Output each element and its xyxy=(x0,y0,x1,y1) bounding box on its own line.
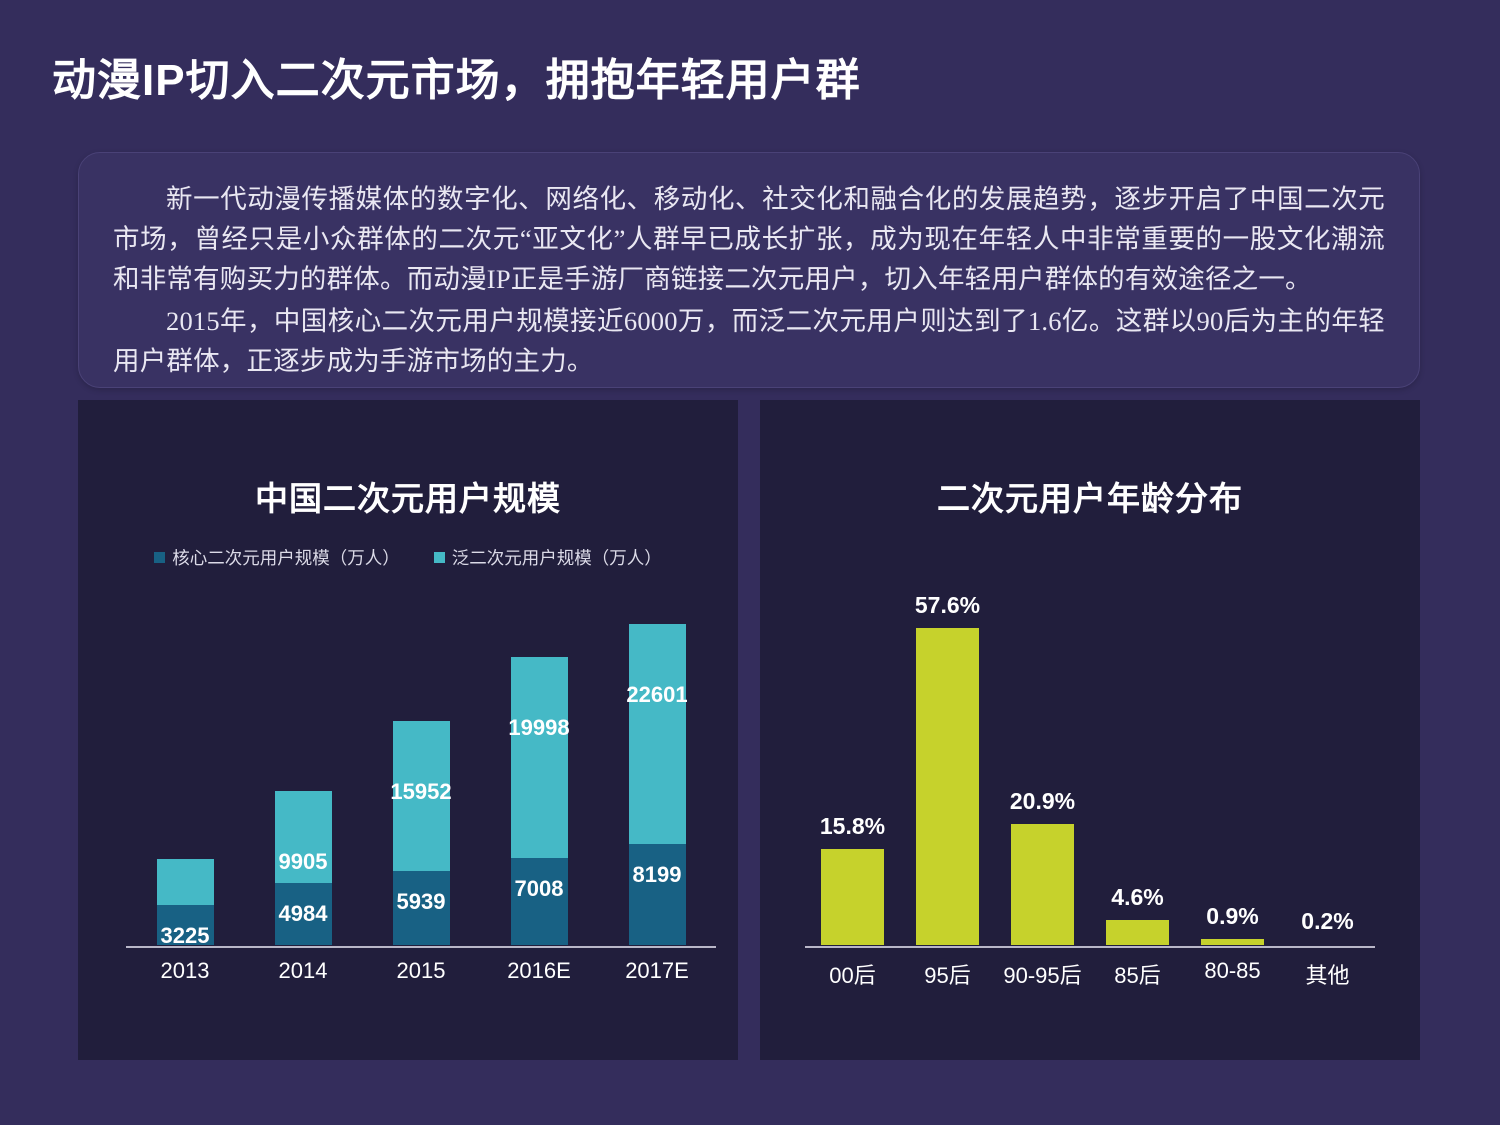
chart-legend-user-scale: 核心二次元用户规模（万人） 泛二次元用户规模（万人） xyxy=(78,545,738,570)
x-tick-85hou: 85后 xyxy=(1090,958,1185,990)
bar-group-age-distribution: 15.8% 57.6% 20.9% 4.6% 0.9% 0.2% xyxy=(805,595,1375,945)
bar-label-pan-2015: 15952 xyxy=(390,779,451,805)
x-axis-labels-age-distribution: 00后 95后 90-95后 85后 80-85 其他 xyxy=(805,958,1375,990)
legend-swatch-pan-icon xyxy=(434,552,445,563)
bar-segment-pan-2016E[interactable]: 19998 xyxy=(511,657,568,858)
x-tick-2017E: 2017E xyxy=(598,958,716,984)
bar-slot-95hou[interactable]: 57.6% xyxy=(900,595,995,945)
chart-panel-age-distribution: 二次元用户年龄分布 15.8% 57.6% 20.9% 4.6% 0.9% xyxy=(760,400,1420,1060)
legend-swatch-core-icon xyxy=(154,552,165,563)
x-tick-2014: 2014 xyxy=(244,958,362,984)
x-tick-80-85: 80-85 xyxy=(1185,958,1280,990)
bar-label-core-2017E: 8199 xyxy=(633,862,682,888)
bar-group-user-scale: 5635 3225 9905 4984 15952 xyxy=(126,615,716,945)
x-tick-90-95hou: 90-95后 xyxy=(995,958,1090,990)
x-axis-line-user-scale xyxy=(126,946,716,948)
bar-label-pan-2014: 9905 xyxy=(279,849,328,875)
x-tick-2013: 2013 xyxy=(126,958,244,984)
intro-text-body: 新一代动漫传播媒体的数字化、网络化、移动化、社交化和融合化的发展趋势，逐步开启了… xyxy=(79,153,1419,381)
bar-label-core-2016E: 7008 xyxy=(515,876,564,902)
bar-segment-core-2015[interactable]: 5939 xyxy=(393,871,450,945)
chart-title-age-distribution: 二次元用户年龄分布 xyxy=(760,472,1420,520)
legend-label-pan: 泛二次元用户规模（万人） xyxy=(452,545,662,570)
bar-slot-2013[interactable]: 5635 3225 xyxy=(126,615,244,945)
bar-slot-qita[interactable]: 0.2% xyxy=(1280,595,1375,945)
x-tick-qita: 其他 xyxy=(1280,958,1375,990)
x-tick-95hou: 95后 xyxy=(900,958,995,990)
bar-value-95hou: 57.6% xyxy=(915,592,980,619)
legend-item-pan[interactable]: 泛二次元用户规模（万人） xyxy=(434,545,662,570)
bar-segment-pan-2017E[interactable]: 22601 xyxy=(629,624,686,844)
bar-85hou[interactable]: 4.6% xyxy=(1106,920,1169,945)
stacked-bar-2013[interactable]: 5635 3225 xyxy=(157,859,214,945)
x-axis-line-age-distribution xyxy=(805,946,1375,948)
page-title: 动漫IP切入二次元市场，拥抱年轻用户群 xyxy=(52,44,861,108)
bar-segment-core-2017E[interactable]: 8199 xyxy=(629,844,686,945)
bar-segment-pan-2015[interactable]: 15952 xyxy=(393,721,450,871)
x-axis-labels-user-scale: 2013 2014 2015 2016E 2017E xyxy=(126,958,716,984)
x-tick-2016E: 2016E xyxy=(480,958,598,984)
bar-95hou[interactable]: 57.6% xyxy=(916,628,979,945)
bar-value-85hou: 4.6% xyxy=(1111,884,1163,911)
bar-value-qita: 0.2% xyxy=(1301,908,1353,935)
bar-label-pan-2016E: 19998 xyxy=(508,715,569,741)
bar-slot-80-85[interactable]: 0.9% xyxy=(1185,595,1280,945)
stacked-bar-2014[interactable]: 9905 4984 xyxy=(275,791,332,945)
stacked-bar-2015[interactable]: 15952 5939 xyxy=(393,721,450,945)
x-tick-2015: 2015 xyxy=(362,958,480,984)
bar-segment-core-2013[interactable]: 3225 xyxy=(157,905,214,945)
intro-paragraph-2: 2015年，中国核心二次元用户规模接近6000万，而泛二次元用户则达到了1.6亿… xyxy=(113,301,1385,381)
intro-paragraph-1: 新一代动漫传播媒体的数字化、网络化、移动化、社交化和融合化的发展趋势，逐步开启了… xyxy=(113,179,1385,299)
intro-text-card: 新一代动漫传播媒体的数字化、网络化、移动化、社交化和融合化的发展趋势，逐步开启了… xyxy=(78,152,1420,388)
chart-title-user-scale: 中国二次元用户规模 xyxy=(78,472,738,520)
bar-80-85[interactable]: 0.9% xyxy=(1201,939,1264,945)
bar-value-00hou: 15.8% xyxy=(820,813,885,840)
bar-segment-core-2014[interactable]: 4984 xyxy=(275,883,332,945)
bar-slot-2015[interactable]: 15952 5939 xyxy=(362,615,480,945)
chart-panel-user-scale: 中国二次元用户规模 核心二次元用户规模（万人） 泛二次元用户规模（万人） 563… xyxy=(78,400,738,1060)
x-tick-00hou: 00后 xyxy=(805,958,900,990)
legend-item-core[interactable]: 核心二次元用户规模（万人） xyxy=(154,545,400,570)
legend-label-core: 核心二次元用户规模（万人） xyxy=(172,545,400,570)
bar-segment-pan-2014[interactable]: 9905 xyxy=(275,791,332,883)
bar-90-95hou[interactable]: 20.9% xyxy=(1011,824,1074,945)
bar-slot-90-95hou[interactable]: 20.9% xyxy=(995,595,1090,945)
bar-00hou[interactable]: 15.8% xyxy=(821,849,884,945)
bar-label-core-2014: 4984 xyxy=(279,901,328,927)
bar-slot-2016E[interactable]: 19998 7008 xyxy=(480,615,598,945)
bar-value-90-95hou: 20.9% xyxy=(1010,788,1075,815)
stacked-bar-2016E[interactable]: 19998 7008 xyxy=(511,657,568,945)
bar-slot-2014[interactable]: 9905 4984 xyxy=(244,615,362,945)
bar-label-core-2015: 5939 xyxy=(397,889,446,915)
bar-label-pan-2017E: 22601 xyxy=(626,682,687,708)
stacked-bar-2017E[interactable]: 22601 8199 xyxy=(629,624,686,945)
bar-qita[interactable]: 0.2% xyxy=(1296,944,1359,945)
bar-slot-2017E[interactable]: 22601 8199 xyxy=(598,615,716,945)
bar-segment-core-2016E[interactable]: 7008 xyxy=(511,858,568,945)
bar-slot-85hou[interactable]: 4.6% xyxy=(1090,595,1185,945)
bar-slot-00hou[interactable]: 15.8% xyxy=(805,595,900,945)
bar-value-80-85: 0.9% xyxy=(1206,903,1258,930)
bar-segment-pan-2013[interactable]: 5635 xyxy=(157,859,214,905)
